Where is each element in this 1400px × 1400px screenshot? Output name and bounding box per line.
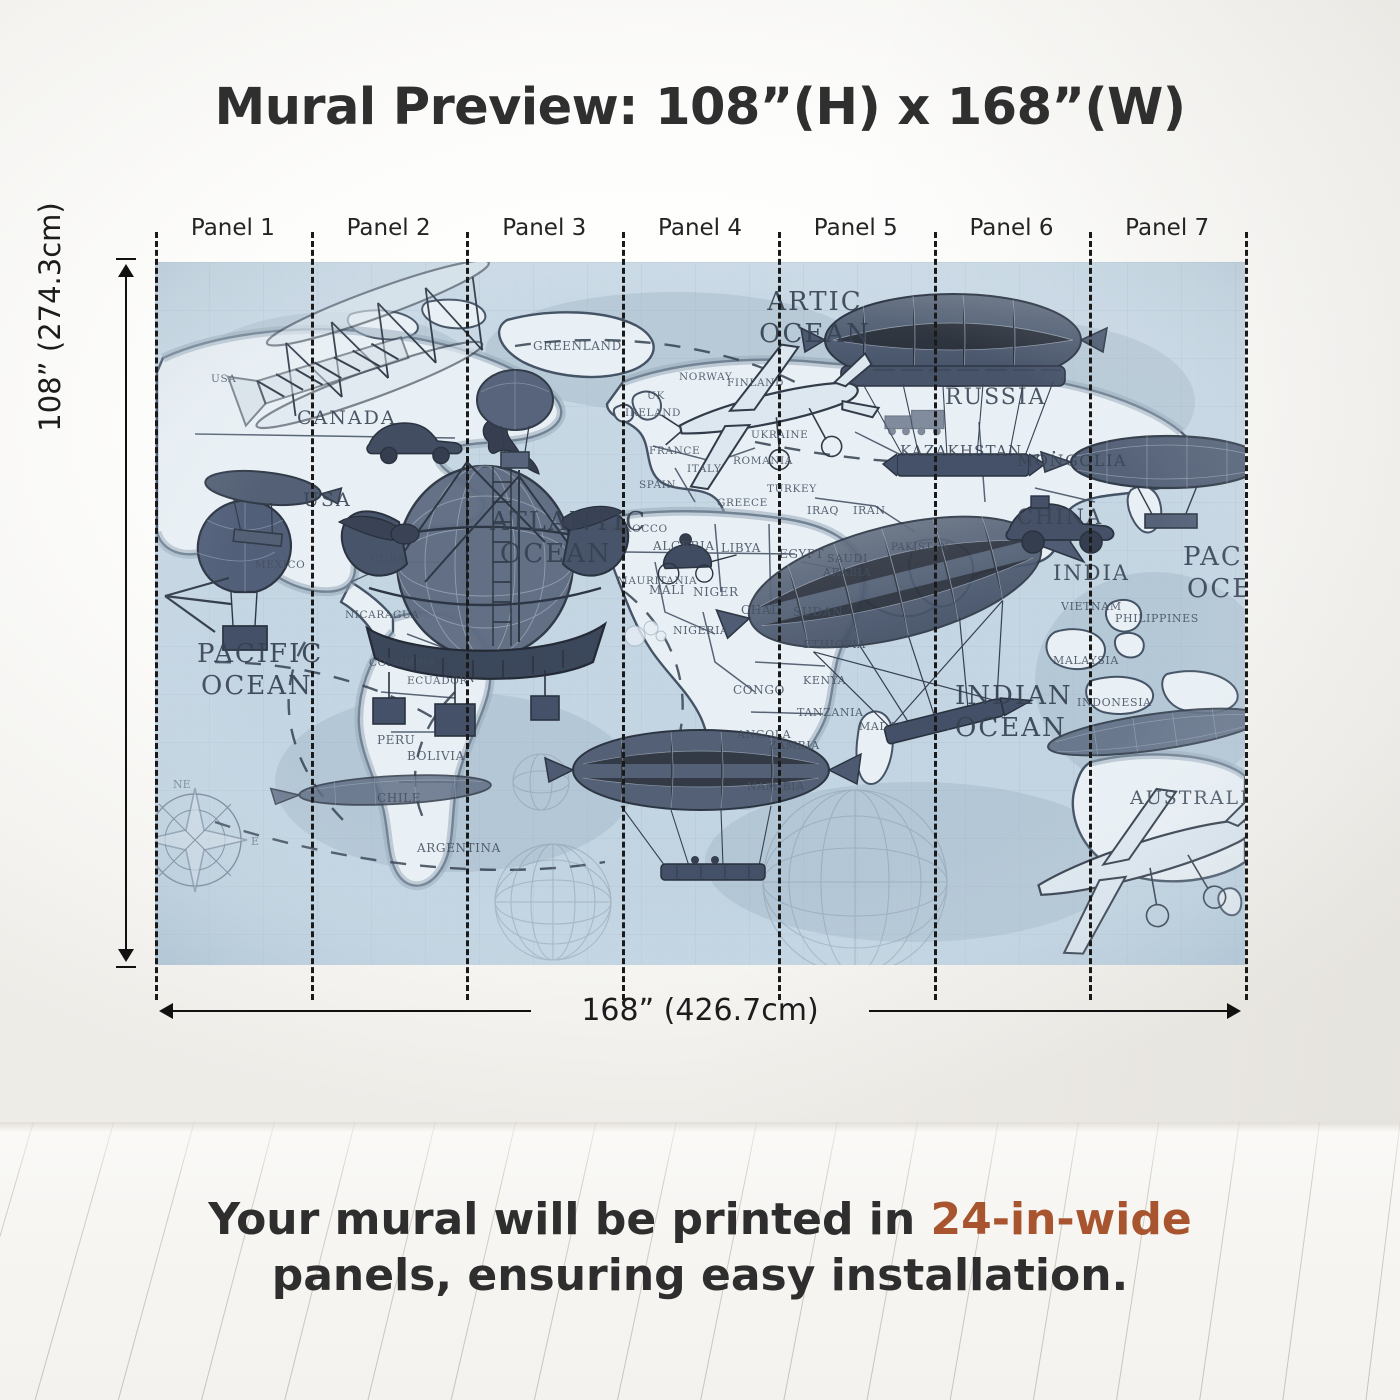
panel-label-5: Panel 5: [778, 211, 934, 245]
height-arrow-head-down: [118, 949, 134, 962]
caption-line2: panels, ensuring easy installation.: [272, 1250, 1129, 1301]
panel-label-2: Panel 2: [311, 211, 467, 245]
height-dimension-arrow: [108, 258, 144, 968]
world-map-illustration: NE E: [155, 262, 1245, 965]
page-title: Mural Preview: 108”(H) x 168”(W): [0, 78, 1400, 137]
width-dimension-arrow: 168” (426.7cm): [155, 998, 1245, 1024]
panel-label-1: Panel 1: [155, 211, 311, 245]
panel-label-row: Panel 1Panel 2Panel 3Panel 4Panel 5Panel…: [155, 211, 1245, 245]
height-tick-top: [116, 258, 136, 260]
panel-label-3: Panel 3: [466, 211, 622, 245]
height-arrow-head-up: [118, 264, 134, 277]
mural-preview[interactable]: NE E: [155, 262, 1245, 965]
panel-label-4: Panel 4: [622, 211, 778, 245]
caption-line1-before: Your mural will be printed in: [208, 1194, 930, 1245]
height-tick-bottom: [116, 966, 136, 968]
height-arrow-shaft: [125, 272, 127, 954]
panel-label-7: Panel 7: [1089, 211, 1245, 245]
caption-accent: 24-in-wide: [931, 1194, 1192, 1245]
width-dimension-label: 168” (426.7cm): [155, 998, 1245, 1024]
install-caption: Your mural will be printed in 24-in-wide…: [0, 1192, 1400, 1305]
mural-image: NE E: [155, 262, 1245, 965]
height-dimension-label: 108” (274.3cm): [33, 57, 67, 577]
panel-label-6: Panel 6: [934, 211, 1090, 245]
